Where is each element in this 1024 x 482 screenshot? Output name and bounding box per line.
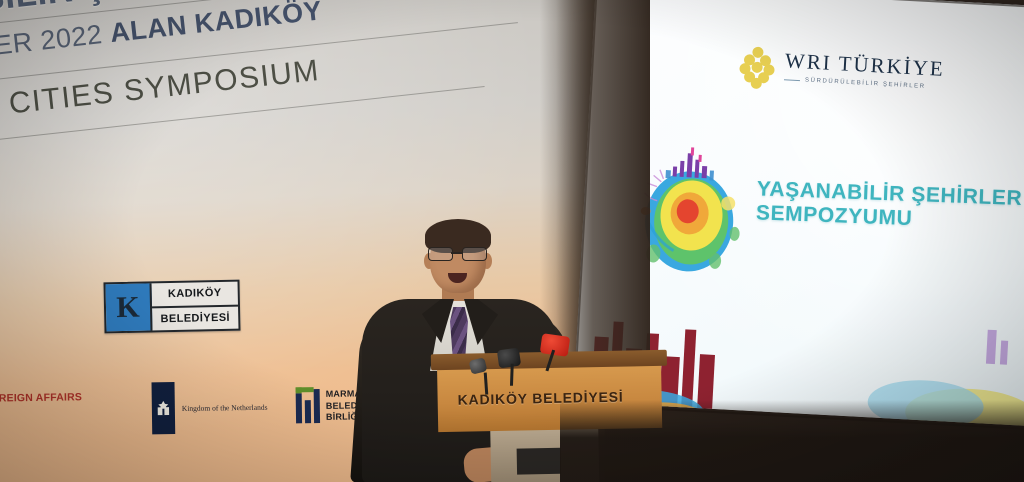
mic-flag-gray: [469, 357, 488, 374]
marmara-green-cap-icon: [296, 387, 314, 392]
photo-scene: AŞANABİLİR ŞEHİRLER SEMPOZYUMU İM/OCTOBE…: [0, 0, 1024, 482]
marmara-bar-3: [314, 389, 320, 423]
podium-base-plate: [517, 448, 561, 475]
mic-flag-black: [497, 348, 521, 369]
mic-flag-red: [540, 333, 571, 357]
netherlands-logo: Kingdom of the Netherlands: [151, 381, 267, 435]
british-council-logo: OF FOREIGN AFFAIRS RK Council: [0, 391, 83, 429]
wri-wordmark-block: WRI TÜRKİYE SÜRDÜRÜLEBİLİR ŞEHİRLER: [784, 50, 945, 91]
kadikoy-logo-line2: BELEDİYESİ: [152, 306, 238, 330]
marmara-bars-icon: [296, 389, 320, 423]
banner-date-mid: /OCTOBER 2022: [0, 18, 112, 72]
mic-flag-black-head: [497, 348, 521, 369]
marmara-bar-1: [296, 393, 302, 423]
kadikoy-k-monogram-icon: K: [106, 283, 153, 331]
slide-headline: YAŞANABİLİR ŞEHİRLER SEMPOZYUMU: [755, 177, 1024, 236]
british-council-line3: Council: [0, 416, 83, 429]
netherlands-logo-text: Kingdom of the Netherlands: [182, 402, 268, 412]
mic-flag-red-head: [540, 333, 571, 357]
royal-crest-icon: [151, 382, 175, 434]
sponsor-logo-row: OF FOREIGN AFFAIRS RK Council Kingdom of…: [0, 385, 386, 451]
wri-diamond-icon: [739, 46, 777, 84]
foreground-floor-shadow: [560, 400, 1024, 482]
kadikoy-logo-line1: KADIKÖY: [152, 282, 238, 308]
kadikoy-belediyesi-logo: K KADIKÖY BELEDİYESİ: [103, 280, 240, 334]
marmara-bar-2: [305, 400, 311, 423]
kadikoy-logo-text: KADIKÖY BELEDİYESİ: [152, 282, 239, 331]
wri-wordmark: WRI TÜRKİYE: [784, 50, 945, 80]
banner-line-english-title: IVEABLE CITIES SYMPOSIUM: [0, 54, 322, 137]
british-council-line1: OF FOREIGN AFFAIRS: [0, 391, 82, 405]
eyeglasses-icon: [428, 247, 488, 260]
